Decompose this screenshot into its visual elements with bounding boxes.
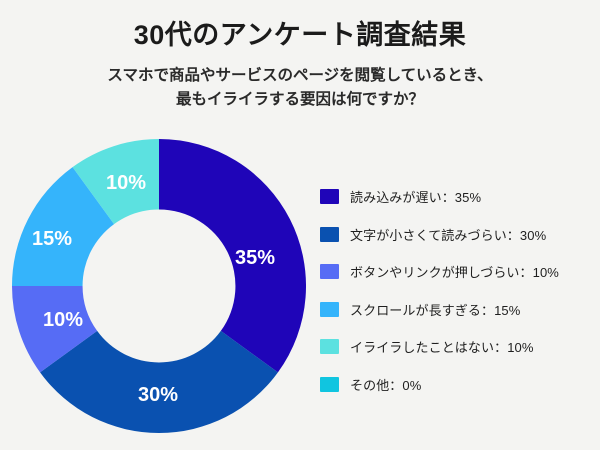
donut-chart: 35%30%10%15%10%	[12, 139, 306, 433]
donut-slice-label: 30%	[138, 384, 178, 406]
legend-item-label: イライラしたことはない：10%	[350, 337, 534, 356]
legend-item[interactable]: 文字が小さくて読みづらい：30%	[320, 216, 596, 254]
chart-subtitle-line-2: 最もイライラする要因は何ですか？	[0, 88, 600, 112]
page-title: 30代のアンケート調査結果	[0, 0, 600, 51]
chart-subtitle: スマホで商品やサービスのページを閲覧しているとき、 最もイライラする要因は何です…	[0, 51, 600, 112]
legend-item[interactable]: 読み込みが遅い：35%	[320, 178, 596, 216]
legend-item-label: 読み込みが遅い：35%	[350, 187, 481, 206]
legend-swatch	[320, 264, 339, 279]
legend-item[interactable]: イライラしたことはない：10%	[320, 328, 596, 366]
donut-slice[interactable]	[159, 139, 306, 372]
legend-swatch	[320, 189, 339, 204]
legend-item-label: ボタンやリンクが押しづらい：10%	[350, 262, 559, 281]
donut-chart-svg: 35%30%10%15%10%	[12, 139, 306, 433]
donut-slice-label: 10%	[106, 172, 146, 194]
donut-slice-label: 10%	[43, 309, 83, 331]
chart-header: 30代のアンケート調査結果 スマホで商品やサービスのページを閲覧しているとき、 …	[0, 0, 600, 112]
legend-item[interactable]: ボタンやリンクが押しづらい：10%	[320, 253, 596, 291]
legend-swatch	[320, 227, 339, 242]
chart-legend: 読み込みが遅い：35%文字が小さくて読みづらい：30%ボタンやリンクが押しづらい…	[320, 178, 596, 403]
legend-swatch	[320, 302, 339, 317]
legend-item-label: スクロールが長すぎる：15%	[350, 300, 520, 319]
legend-item[interactable]: スクロールが長すぎる：15%	[320, 291, 596, 329]
legend-item[interactable]: その他：0%	[320, 366, 596, 404]
donut-slice-label: 15%	[32, 228, 72, 250]
chart-subtitle-line-1: スマホで商品やサービスのページを閲覧しているとき、	[0, 64, 600, 88]
legend-swatch	[320, 339, 339, 354]
legend-item-label: その他：0%	[350, 375, 421, 394]
chart-page: 30代のアンケート調査結果 スマホで商品やサービスのページを閲覧しているとき、 …	[0, 0, 600, 450]
donut-slice-label: 35%	[235, 247, 275, 269]
legend-swatch	[320, 377, 339, 392]
legend-item-label: 文字が小さくて読みづらい：30%	[350, 225, 546, 244]
